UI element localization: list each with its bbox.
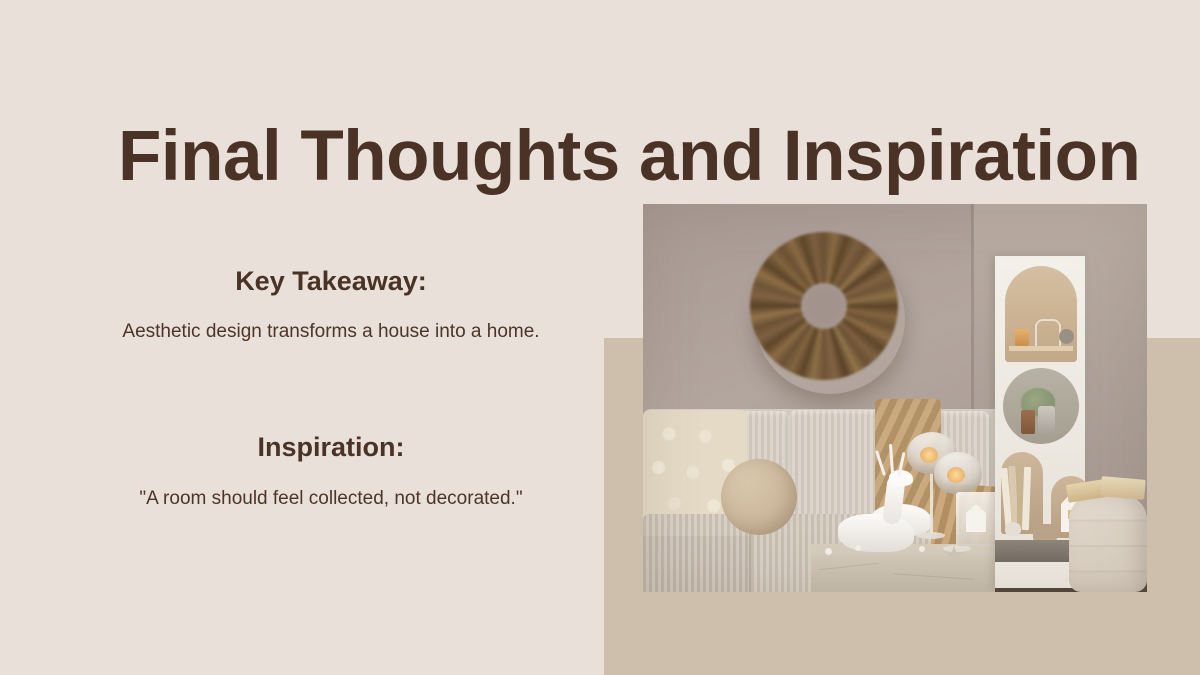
text-column: Key Takeaway: Aesthetic design transform… xyxy=(75,265,587,512)
inspiration-block: Inspiration: "A room should feel collect… xyxy=(75,431,587,512)
inspiration-heading: Inspiration: xyxy=(75,431,587,465)
photo-illustration xyxy=(643,204,1147,592)
living-room-photo xyxy=(643,204,1147,592)
key-takeaway-block: Key Takeaway: Aesthetic design transform… xyxy=(75,265,587,345)
inspiration-quote: "A room should feel collected, not decor… xyxy=(75,486,587,512)
photo-vignette xyxy=(643,204,1147,592)
page-title: Final Thoughts and Inspiration xyxy=(118,120,1078,195)
key-takeaway-body: Aesthetic design transforms a house into… xyxy=(75,319,587,345)
slide-canvas: Final Thoughts and Inspiration Key Takea… xyxy=(0,0,1200,675)
key-takeaway-heading: Key Takeaway: xyxy=(75,265,587,299)
